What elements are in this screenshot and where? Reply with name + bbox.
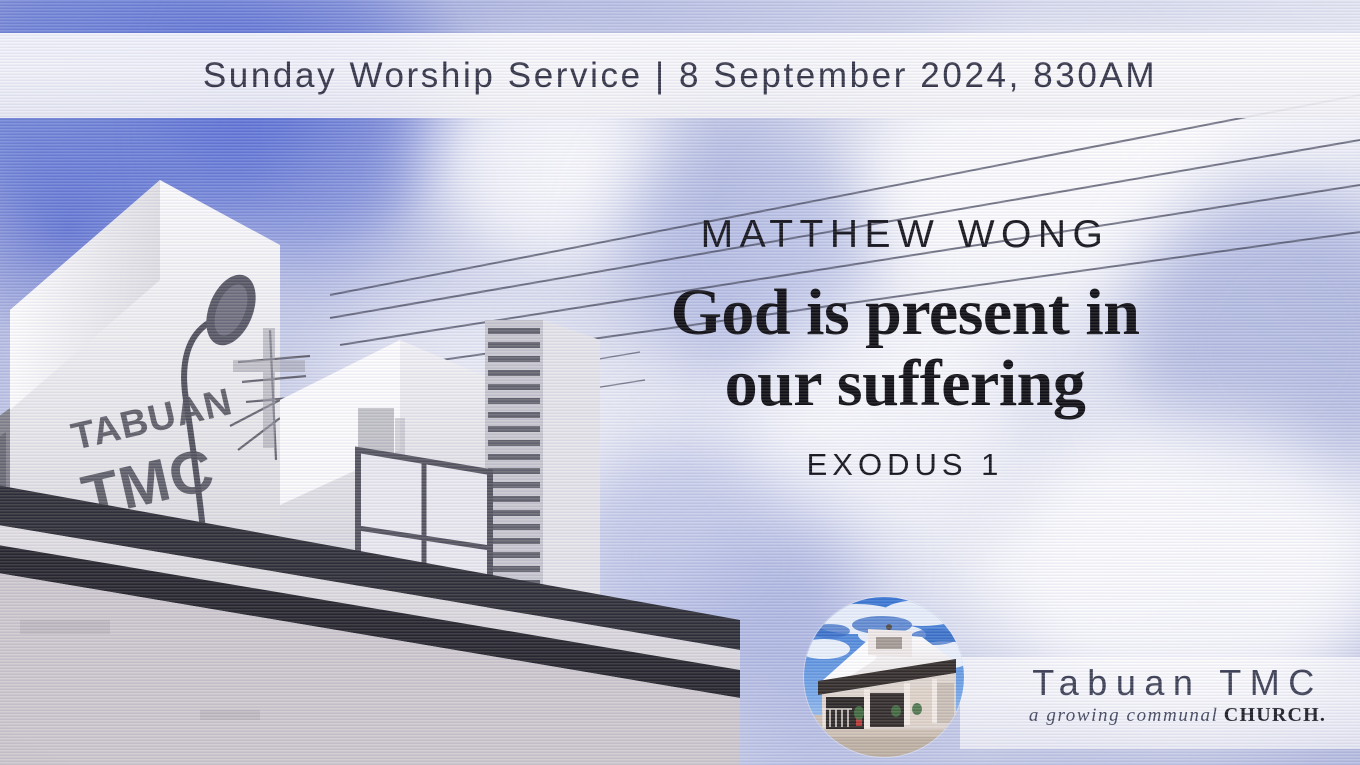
logo-tagline-italic: a growing communal xyxy=(1029,705,1219,726)
header-bar: Sunday Worship Service | 8 September 202… xyxy=(0,33,1360,118)
logo-name: Tabuan TMC xyxy=(1005,664,1350,702)
church-photo-avatar xyxy=(804,597,964,757)
speaker-name: MATTHEW WONG xyxy=(600,215,1210,254)
sermon-content: MATTHEW WONG God is present in our suffe… xyxy=(600,215,1210,483)
logo-tagline-bold: CHURCH. xyxy=(1224,704,1326,726)
scripture-reference: EXODUS 1 xyxy=(600,447,1210,483)
sermon-title: God is present in our suffering xyxy=(600,278,1210,419)
sermon-title-line-1: God is present in xyxy=(600,278,1210,349)
sermon-title-line-2: our suffering xyxy=(600,349,1210,420)
sermon-slide: TABUAN TMC xyxy=(0,0,1360,765)
logo-wordmark: Tabuan TMC a growing communal CHURCH. xyxy=(1005,664,1350,727)
logo-tagline: a growing communal CHURCH. xyxy=(1005,704,1350,727)
header-title: Sunday Worship Service | 8 September 202… xyxy=(203,56,1157,96)
